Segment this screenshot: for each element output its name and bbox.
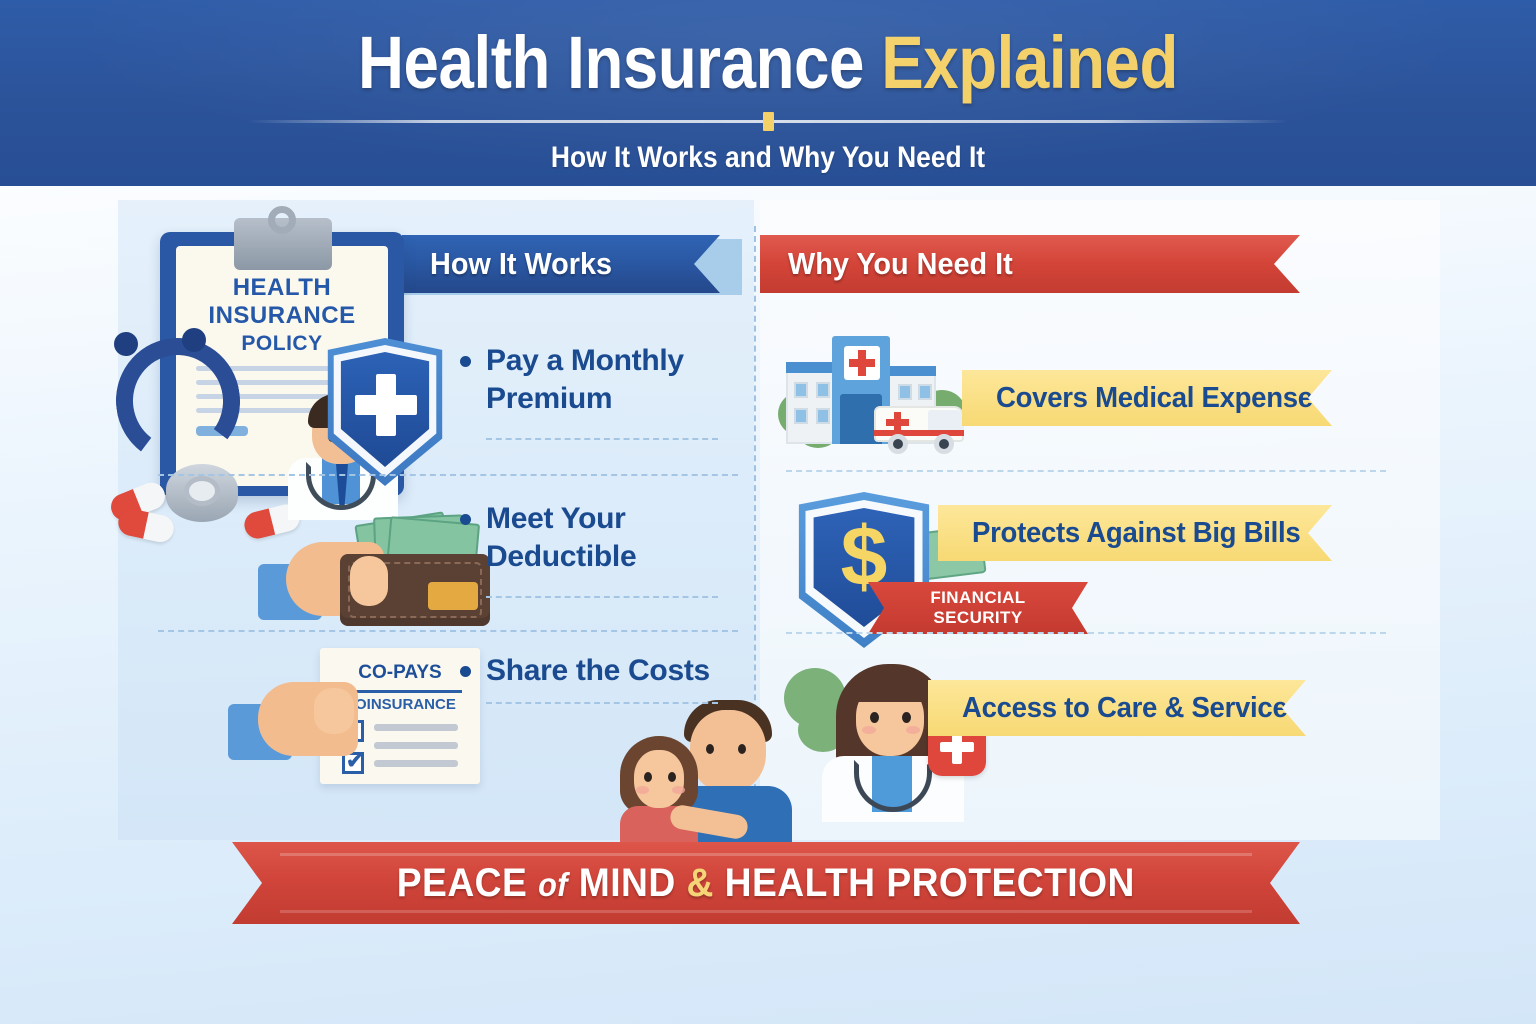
stethoscope-earpiece xyxy=(182,328,206,352)
father-eye xyxy=(738,744,746,754)
child-cheek xyxy=(636,786,649,794)
page-subtitle: How It Works and Why You Need It xyxy=(92,136,1444,180)
financial-security-ribbon: FINANCIAL SECURITY xyxy=(868,582,1088,634)
list-item-label: Meet Your Deductible xyxy=(486,500,636,576)
wallet-clasp xyxy=(428,582,478,610)
badge-cross-horizontal xyxy=(940,742,974,752)
list-item-label: Share the Costs xyxy=(486,652,710,690)
child-cheek xyxy=(672,786,685,794)
title-accent-text: Explained xyxy=(881,21,1178,104)
list-item-line2: Deductible xyxy=(486,538,636,576)
benefit-separator xyxy=(786,632,1386,634)
stethoscope-earpiece xyxy=(114,332,138,356)
benefit-label: Protects Against Big Bills xyxy=(972,517,1300,550)
footer-text: PEACE of MIND & HEALTH PROTECTION xyxy=(397,861,1135,906)
father-eye xyxy=(706,744,714,754)
child-eye xyxy=(644,772,652,782)
ambulance-cross-horizontal xyxy=(886,419,909,426)
doctor-eye xyxy=(902,712,911,723)
copays-document-illustration: CO-PAYS COINSURANCE ✔ xyxy=(262,648,490,794)
list-item-share-the-costs: Share the Costs xyxy=(460,652,710,690)
doctor-cheek xyxy=(862,726,876,734)
list-item-line1: Share the Costs xyxy=(486,652,710,690)
hand-thumb xyxy=(314,688,354,734)
list-item-label: Pay a Monthly Premium xyxy=(486,342,684,418)
footer-ampersand: & xyxy=(687,861,714,905)
benefit-separator xyxy=(786,470,1386,472)
financial-security-line1: FINANCIAL xyxy=(868,588,1088,608)
copay-title: CO-PAYS xyxy=(320,662,480,684)
hospital-window xyxy=(898,384,912,400)
shield-cross-horizontal xyxy=(355,395,417,415)
financial-security-line2: SECURITY xyxy=(868,608,1088,628)
list-separator xyxy=(158,630,738,632)
hospital-left-wing xyxy=(786,362,836,444)
section-header-why-you-need-it: Why You Need It xyxy=(760,235,1300,293)
policy-title-line2: INSURANCE xyxy=(176,302,388,330)
list-item-line2: Premium xyxy=(486,380,684,418)
hospital-window xyxy=(918,384,932,400)
benefit-label: Access to Care & Services xyxy=(962,692,1303,725)
title-divider-marker xyxy=(763,112,774,131)
section-label-how-it-works: How It Works xyxy=(430,246,612,282)
list-item-line1: Meet Your xyxy=(486,500,636,538)
ambulance-wheel xyxy=(934,434,954,454)
page-title: Health Insurance Explained xyxy=(108,16,1429,110)
benefit-banner-access-to-care-and-services: Access to Care & Services xyxy=(928,680,1306,736)
section-label-why-you-need-it: Why You Need It xyxy=(788,246,1013,282)
section-header-how-it-works: How It Works xyxy=(402,235,720,293)
footer-banner: PEACE of MIND & HEALTH PROTECTION xyxy=(232,842,1300,924)
clipboard-clip-ring xyxy=(268,206,296,234)
child-face xyxy=(634,750,684,808)
copay-text-line xyxy=(374,742,458,749)
hospital-window xyxy=(816,408,830,424)
health-shield-icon xyxy=(320,338,450,486)
benefit-label: Covers Medical Expenses xyxy=(996,382,1328,415)
doctor-fringe xyxy=(852,672,928,702)
page-header: Health Insurance Explained How It Works … xyxy=(0,0,1536,186)
ribbon-right: Why You Need It xyxy=(760,235,1300,293)
list-item-meet-your-deductible: Meet Your Deductible xyxy=(460,500,636,576)
bullet-icon xyxy=(460,514,471,525)
hospital-window xyxy=(816,382,830,398)
bullet-icon xyxy=(460,356,471,367)
footer-part1: PEACE xyxy=(397,861,538,905)
item-underline xyxy=(486,596,718,598)
title-main-text: Health Insurance xyxy=(358,21,881,104)
benefit-banner-protects-against-big-bills: Protects Against Big Bills xyxy=(938,505,1332,561)
ambulance-stripe xyxy=(874,430,964,436)
family-illustration xyxy=(612,694,832,844)
footer-part3: HEALTH PROTECTION xyxy=(714,861,1135,905)
footer-of: of xyxy=(538,866,568,903)
bullet-icon xyxy=(460,666,471,677)
doctor-cheek xyxy=(906,726,920,734)
hospital-trim xyxy=(786,362,836,373)
list-separator xyxy=(158,474,738,476)
hospital-and-ambulance-illustration xyxy=(778,336,974,458)
list-item-line1: Pay a Monthly xyxy=(486,342,684,380)
financial-security-shield-illustration: $ FINANCIAL SECURITY xyxy=(790,492,938,648)
hospital-window xyxy=(794,408,808,424)
doctor-eye xyxy=(870,712,879,723)
child-eye xyxy=(668,772,676,782)
item-underline xyxy=(486,438,718,440)
footer-part2: MIND xyxy=(568,861,687,905)
hospital-trim xyxy=(888,366,936,376)
footer-banner-wrap: PEACE of MIND & HEALTH PROTECTION xyxy=(232,842,1300,924)
benefit-banner-covers-medical-expenses: Covers Medical Expenses xyxy=(962,370,1332,426)
hospital-window xyxy=(794,382,808,398)
hand-thumb xyxy=(350,556,388,606)
ambulance-wheel xyxy=(888,434,908,454)
list-item-pay-monthly-premium: Pay a Monthly Premium xyxy=(460,342,684,418)
hospital-cross-horizontal xyxy=(849,359,875,367)
policy-title-line1: HEALTH xyxy=(176,274,388,302)
copay-text-line xyxy=(374,760,458,767)
copay-text-line xyxy=(374,724,458,731)
father-head xyxy=(690,710,766,792)
stethoscope-diaphragm xyxy=(184,476,220,506)
infographic-root: Health Insurance Explained How It Works … xyxy=(0,0,1536,1024)
stethoscope-chestpiece xyxy=(166,464,238,522)
pill-half-white xyxy=(143,512,176,544)
item-underline xyxy=(486,702,718,704)
ribbon-left: How It Works xyxy=(402,235,720,293)
